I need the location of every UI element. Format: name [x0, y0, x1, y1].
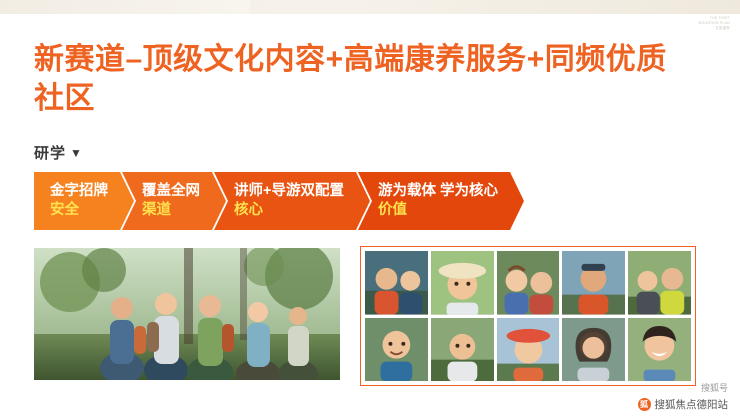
photo-grid-cell-5 [628, 251, 691, 315]
chevron-item-3-line1: 讲师+导游双配置 [234, 182, 344, 201]
chevron-item-1-line2: 安全 [50, 201, 108, 220]
chevron-item-4-line2: 价值 [378, 201, 498, 220]
photo-grid-cell-3 [497, 251, 560, 315]
sohu-logo-icon: 狐 [638, 398, 651, 411]
chevron-item-1-line1: 金字招牌 [50, 182, 108, 201]
corner-watermark-line-3: 文旅康养 [670, 26, 730, 31]
footer-brand: 狐 搜狐焦点德阳站 [638, 397, 729, 412]
photo-grid-cell-8 [497, 318, 560, 382]
photo-grid [365, 251, 691, 381]
chevron-item-2-line2: 渠道 [142, 201, 200, 220]
chevron-down-icon: ▼ [70, 146, 83, 160]
page-title: 新赛道–顶级文化内容+高端康养服务+同频优质社区 [34, 40, 674, 118]
footer-note: 搜狐号 [701, 381, 728, 394]
photo-grid-cell-6 [365, 318, 428, 382]
section-label-text: 研学 [34, 145, 66, 162]
corner-watermark: THE FIRST MOUNTAIN PLAN 文旅康养 [670, 16, 730, 31]
chevron-item-4-line1: 游为载体 学为核心 [378, 182, 498, 201]
chevron-ribbon: 金字招牌 安全 覆盖全网 渠道 讲师+导游双配置 核心 游为载体 学为核心 价值 [34, 172, 512, 230]
chevron-item-2[interactable]: 覆盖全网 渠道 [122, 172, 226, 230]
top-decorative-band [0, 0, 740, 14]
photo-grid-cell-9 [562, 318, 625, 382]
photo-hiking-group [34, 248, 340, 380]
photo-grid-cell-4 [562, 251, 625, 315]
photo-grid-cell-1 [365, 251, 428, 315]
photo-grid-cell-2 [431, 251, 494, 315]
slide-root: THE FIRST MOUNTAIN PLAN 文旅康养 新赛道–顶级文化内容+… [0, 0, 740, 416]
photo-grid-panel [360, 246, 696, 386]
chevron-item-3[interactable]: 讲师+导游双配置 核心 [214, 172, 370, 230]
chevron-item-1[interactable]: 金字招牌 安全 [34, 172, 134, 230]
chevron-item-3-line2: 核心 [234, 201, 344, 220]
top-band-accent [0, 0, 250, 14]
photo-grid-cell-7 [431, 318, 494, 382]
photo-grid-cell-10 [628, 318, 691, 382]
section-label: 研学▼ [34, 142, 83, 163]
chevron-item-2-line1: 覆盖全网 [142, 182, 200, 201]
chevron-item-4[interactable]: 游为载体 学为核心 价值 [358, 172, 524, 230]
footer-brand-text: 搜狐焦点德阳站 [655, 397, 729, 412]
